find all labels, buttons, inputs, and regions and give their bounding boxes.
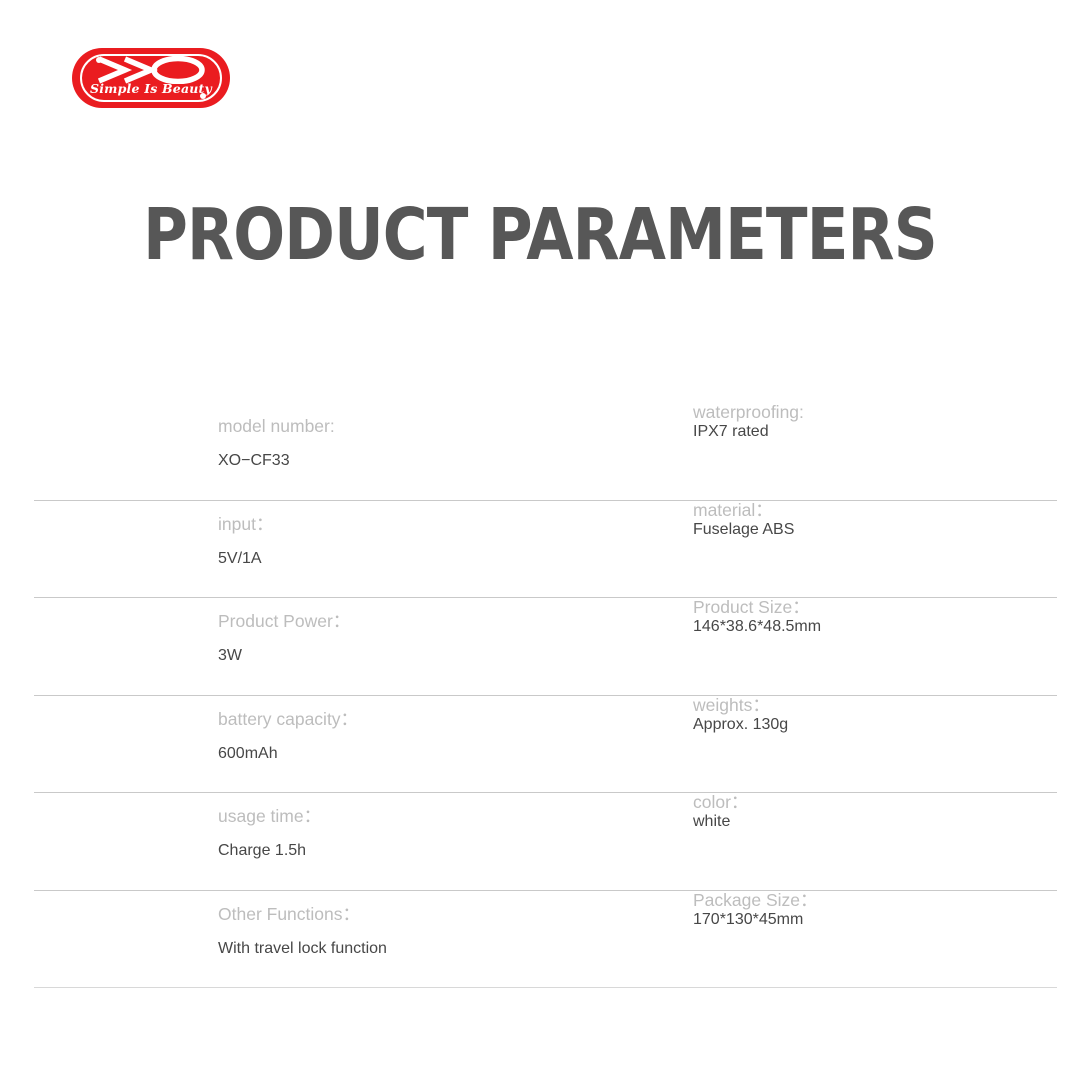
- table-row: model number: XO−CF33 waterproofing: IPX…: [0, 403, 1080, 501]
- spec-value: IPX7 rated: [693, 421, 1053, 442]
- spec-value: Charge 1.5h: [218, 840, 668, 861]
- spec-table: model number: XO−CF33 waterproofing: IPX…: [0, 403, 1080, 988]
- spec-cell-right: material： Fuselage ABS: [693, 501, 1053, 540]
- spec-cell-right: weights： Approx. 130g: [693, 696, 1053, 735]
- table-row: battery capacity： 600mAh weights： Approx…: [0, 696, 1080, 794]
- spec-label: Product Power：: [218, 610, 668, 632]
- product-parameters-page: Simple Is Beauty PRODUCT PARAMETERS mode…: [0, 0, 1080, 1080]
- table-row: Other Functions： With travel lock functi…: [0, 891, 1080, 988]
- spec-label: battery capacity：: [218, 708, 668, 730]
- spec-cell-left: input： 5V/1A: [218, 501, 668, 569]
- table-row: input： 5V/1A material： Fuselage ABS: [0, 501, 1080, 599]
- spec-label: model number:: [218, 415, 668, 437]
- logo-tagline: Simple Is Beauty: [72, 81, 230, 96]
- spec-label: usage time：: [218, 805, 668, 827]
- spec-value: 5V/1A: [218, 548, 668, 569]
- spec-cell-left: Other Functions： With travel lock functi…: [218, 891, 668, 959]
- spec-value: Fuselage ABS: [693, 519, 1053, 540]
- spec-cell-left: battery capacity： 600mAh: [218, 696, 668, 764]
- spec-label: color：: [693, 791, 1053, 813]
- spec-label: material：: [693, 499, 1053, 521]
- spec-cell-right: Product Size： 146*38.6*48.5mm: [693, 598, 1053, 637]
- spec-cell-right: color： white: [693, 793, 1053, 832]
- spec-value: 3W: [218, 645, 668, 666]
- spec-label: Product Size：: [693, 596, 1053, 618]
- spec-cell-right: waterproofing: IPX7 rated: [693, 403, 1053, 442]
- row-divider: [34, 987, 1057, 988]
- spec-label: input：: [218, 513, 668, 535]
- spec-label: waterproofing:: [693, 401, 1053, 423]
- spec-value: Approx. 130g: [693, 714, 1053, 735]
- spec-label: Other Functions：: [218, 903, 668, 925]
- spec-cell-right: Package Size： 170*130*45mm: [693, 891, 1053, 930]
- spec-cell-left: usage time： Charge 1.5h: [218, 793, 668, 861]
- spec-value: With travel lock function: [218, 938, 668, 959]
- page-title: PRODUCT PARAMETERS: [76, 196, 1005, 274]
- spec-label: weights：: [693, 694, 1053, 716]
- xo-logo: Simple Is Beauty: [72, 48, 230, 108]
- spec-value: 170*130*45mm: [693, 909, 1053, 930]
- table-row: Product Power： 3W Product Size： 146*38.6…: [0, 598, 1080, 696]
- spec-value: 600mAh: [218, 743, 668, 764]
- spec-cell-left: Product Power： 3W: [218, 598, 668, 666]
- spec-cell-left: model number: XO−CF33: [218, 403, 668, 471]
- spec-value: XO−CF33: [218, 450, 668, 471]
- spec-label: Package Size：: [693, 889, 1053, 911]
- table-row: usage time： Charge 1.5h color： white: [0, 793, 1080, 891]
- xo-monogram-icon: [72, 56, 230, 84]
- spec-value: white: [693, 811, 1053, 832]
- spec-value: 146*38.6*48.5mm: [693, 616, 1053, 637]
